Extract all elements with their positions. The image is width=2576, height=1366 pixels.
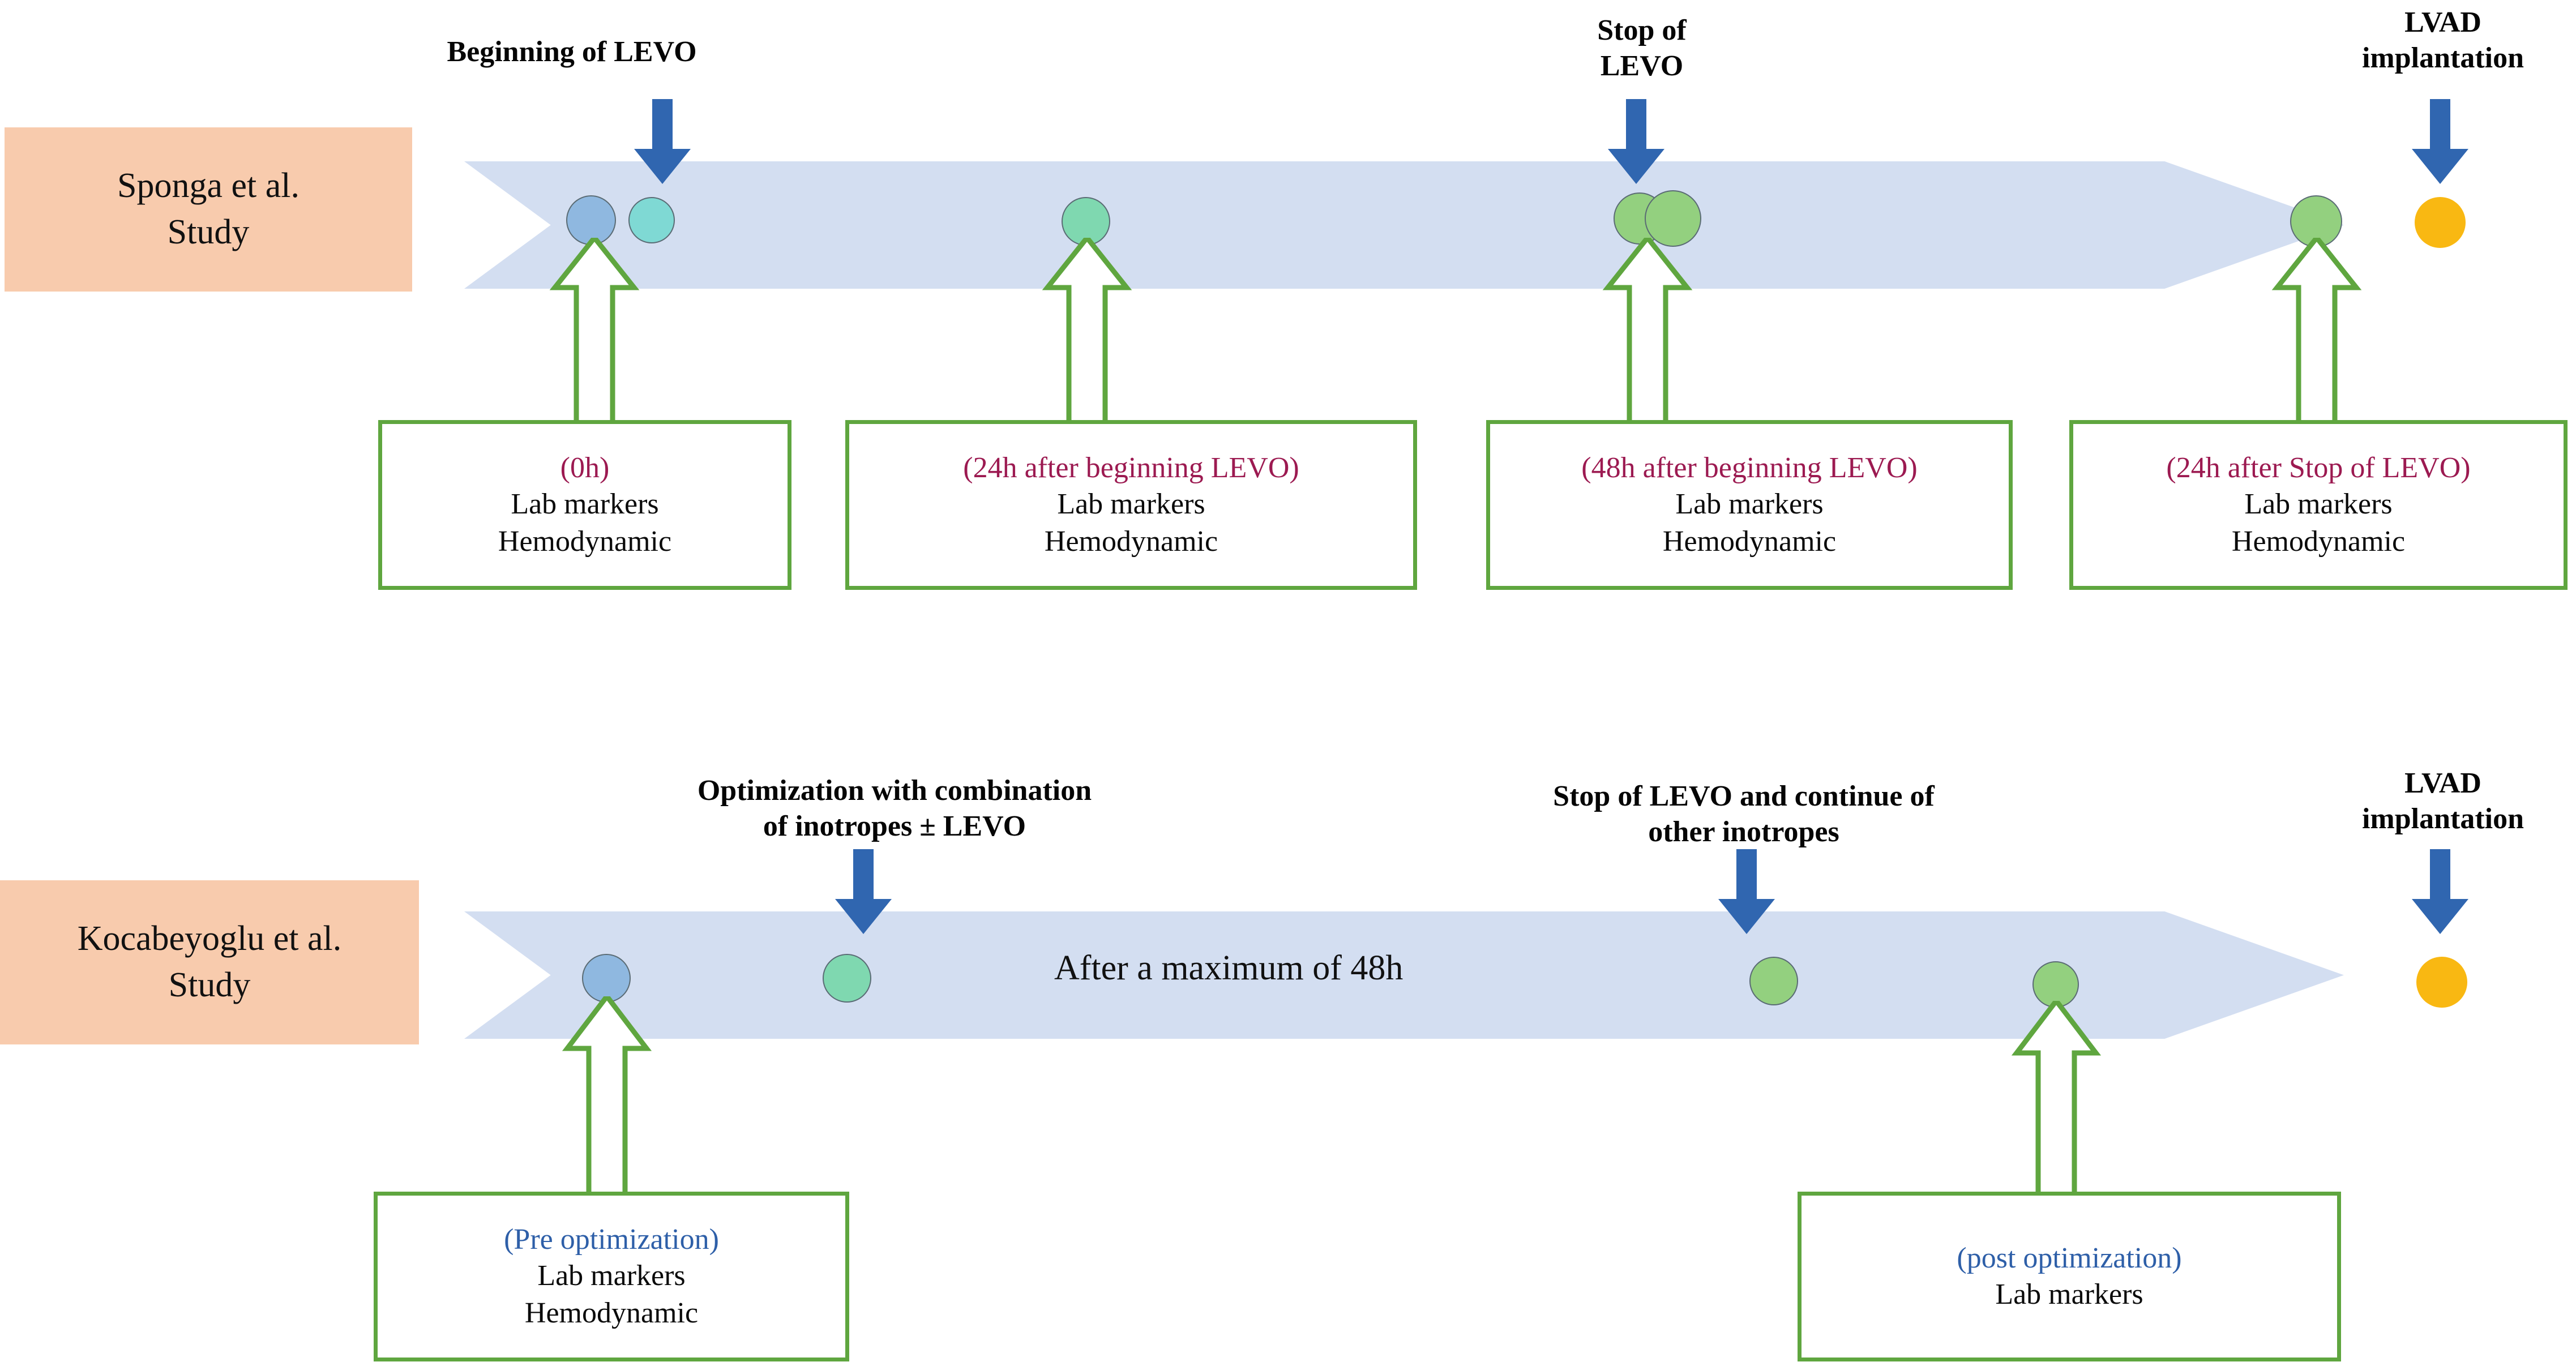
heading-stop-of-levo: Stop of LEVO [1500, 12, 1783, 84]
heading-lvad-implantation-top: LVAD implantation [2310, 5, 2576, 76]
box-24h-after-beginning: (24h after beginning LEVO) Lab markers H… [845, 420, 1417, 590]
blue-arrow-lvad-implantation-bottom [2406, 849, 2474, 934]
box-title: (48h after beginning LEVO) [1581, 450, 1917, 486]
box-post-optimization: (post optimization) Lab markers [1798, 1192, 2341, 1361]
box-line: Lab markers [2244, 486, 2392, 523]
box-title: (0h) [560, 450, 610, 486]
study-label-sponga: Sponga et al. Study [5, 127, 412, 292]
heading-line: implantation [2310, 40, 2576, 76]
green-arrow-to-box-0h [549, 238, 640, 430]
green-arrow-to-box-24h-after-stop [2271, 238, 2362, 430]
dot-lvad-marker-bottom [2416, 957, 2467, 1008]
dot-timepoint-stop-levo [1749, 957, 1798, 1005]
box-line: Lab markers [1057, 486, 1205, 523]
box-0h: (0h) Lab markers Hemodynamic [378, 420, 791, 590]
heading-line: other inotropes [1464, 814, 2024, 850]
green-arrow-to-box-pre-optimization [562, 996, 652, 1200]
green-arrow-to-box-post-optimization [2011, 1001, 2102, 1200]
study-label-line: Study [78, 962, 342, 1009]
dot-lvad-marker-top [2415, 197, 2466, 248]
blue-arrow-stop-of-levo [1602, 99, 1670, 184]
heading-line: LEVO [1500, 48, 1783, 84]
green-arrow-to-box-48h [1602, 238, 1693, 430]
study-label-line: Sponga et al. [117, 163, 299, 209]
heading-stop-of-levo-continue: Stop of LEVO and continue of other inotr… [1464, 778, 2024, 850]
heading-line: implantation [2310, 801, 2576, 837]
dot-timepoint-optimization [823, 954, 871, 1003]
heading-line: LVAD [2310, 5, 2576, 40]
box-line: Lab markers [1995, 1276, 2143, 1313]
box-title: (Pre optimization) [504, 1222, 719, 1257]
heading-beginning-of-levo: Beginning of LEVO [362, 34, 781, 70]
dot-timepoint-pre-optimization [582, 954, 631, 1003]
box-pre-optimization: (Pre optimization) Lab markers Hemodynam… [374, 1192, 849, 1361]
heading-line: Beginning of LEVO [362, 34, 781, 70]
blue-arrow-beginning-of-levo [628, 99, 696, 184]
box-title: (24h after beginning LEVO) [963, 450, 1299, 486]
box-line: Lab markers [1675, 486, 1823, 523]
green-arrow-to-box-24h [1042, 238, 1132, 430]
box-title: (24h after Stop of LEVO) [2166, 450, 2470, 486]
band-text-after-maximum-48h: After a maximum of 48h [1054, 948, 1403, 988]
study-label-line: Kocabeyoglu et al. [78, 916, 342, 962]
heading-line: Stop of [1500, 12, 1783, 48]
heading-line: Optimization with combination [577, 773, 1212, 808]
heading-optimization-with-inotropes: Optimization with combination of inotrop… [577, 773, 1212, 845]
blue-arrow-stop-of-levo-continue [1713, 849, 1781, 934]
box-title: (post optimization) [1957, 1240, 2181, 1276]
box-24h-after-stop: (24h after Stop of LEVO) Lab markers Hem… [2069, 420, 2568, 590]
box-48h-after-beginning: (48h after beginning LEVO) Lab markers H… [1486, 420, 2013, 590]
study-label-kocabeyoglu: Kocabeyoglu et al. Study [0, 880, 419, 1044]
study-label-line: Study [117, 209, 299, 256]
blue-arrow-lvad-implantation-top [2406, 99, 2474, 184]
box-line: Hemodynamic [525, 1295, 698, 1332]
dot-timepoint-0h-cyan [628, 197, 675, 243]
timeline-band-sponga [464, 161, 2344, 289]
box-line: Lab markers [511, 486, 658, 523]
heading-line: LVAD [2310, 765, 2576, 801]
box-line: Lab markers [537, 1257, 685, 1295]
box-line: Hemodynamic [2232, 523, 2405, 560]
figure-canvas: Beginning of LEVO Stop of LEVO LVAD impl… [0, 0, 2576, 1366]
heading-line: of inotropes ± LEVO [577, 808, 1212, 844]
box-line: Hemodynamic [1663, 523, 1836, 560]
heading-line: Stop of LEVO and continue of [1464, 778, 2024, 814]
box-line: Hemodynamic [498, 523, 671, 560]
heading-lvad-implantation-bottom: LVAD implantation [2310, 765, 2576, 837]
box-line: Hemodynamic [1045, 523, 1218, 560]
blue-arrow-optimization [829, 849, 897, 934]
